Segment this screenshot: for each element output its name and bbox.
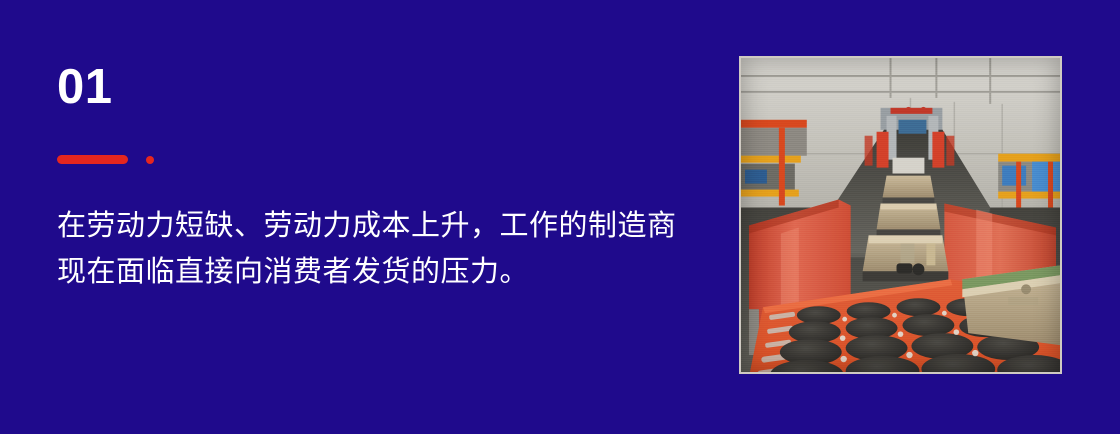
warehouse-photo-graphic [741,58,1060,372]
body-text: 在劳动力短缺、劳动力成本上升，工作的制造商 现在面临直接向消费者发货的压力。 [57,165,697,295]
warehouse-photo [741,58,1060,372]
photo-frame [739,56,1062,374]
divider [57,155,697,165]
slide: 01 在劳动力短缺、劳动力成本上升，工作的制造商 现在面临直接向消费者发货的压力… [0,0,1120,434]
divider-bar [57,155,128,164]
text-content: 01 在劳动力短缺、劳动力成本上升，工作的制造商 现在面临直接向消费者发货的压力… [57,63,697,295]
step-number: 01 [57,63,697,115]
divider-dot [146,156,154,164]
